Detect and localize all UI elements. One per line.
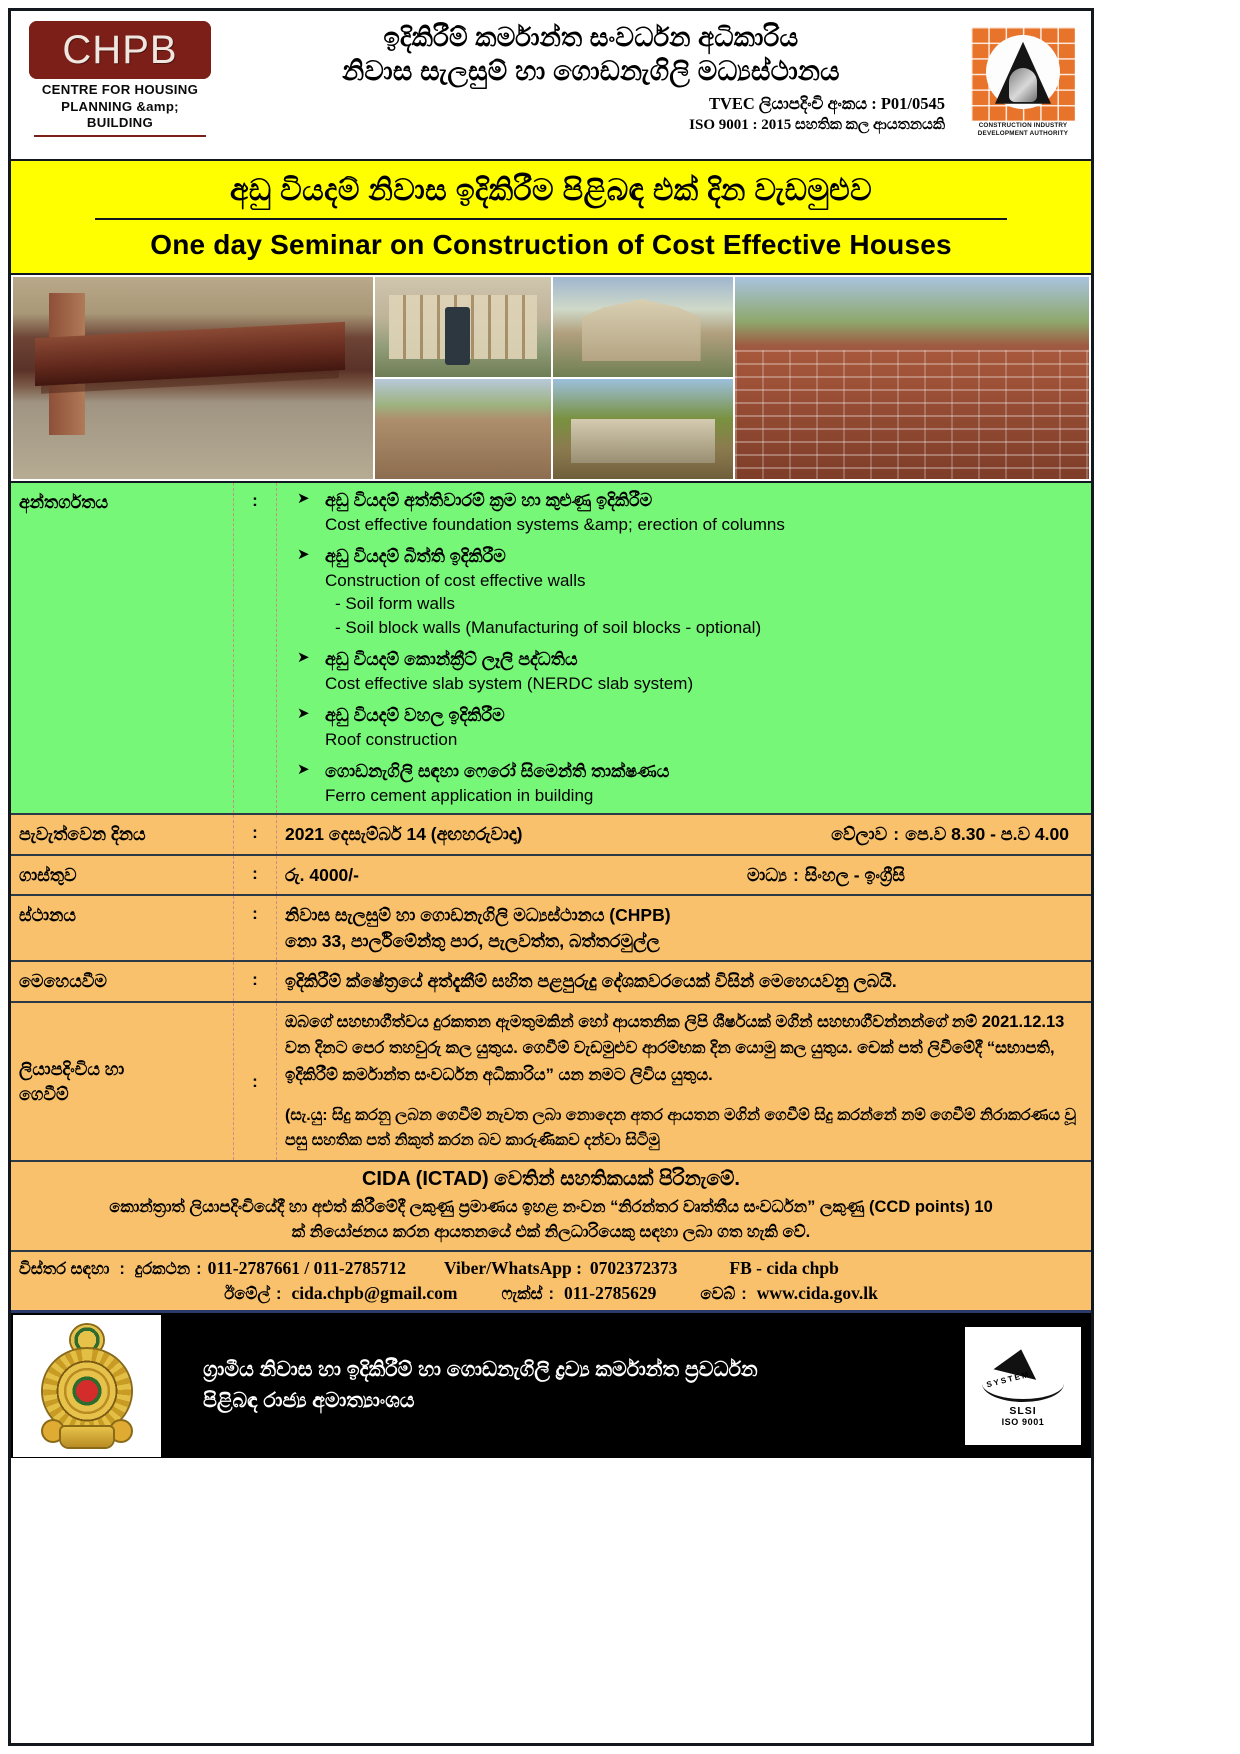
- medium-value: සිංහල - ඉංග්‍රීසි: [805, 862, 905, 888]
- content-item-en: Cost effective foundation systems &amp; …: [291, 513, 1083, 536]
- ministry-name-line1: ග්‍රාමීය නිවාස හා ඉදිකිරීම් හා ගොඩනැගිලි…: [203, 1355, 965, 1386]
- contacts-line1: විස්තර සඳහා : දුරකථන : 011-2787661 / 011…: [19, 1258, 1083, 1279]
- facebook-handle[interactable]: FB - cida chpb: [677, 1258, 838, 1279]
- conduct-label-cell: මෙහෙයවීම: [11, 961, 234, 1001]
- photo-brick-wall-building: [735, 277, 1089, 479]
- chpb-subtitle-line2: PLANNING &amp; BUILDING: [29, 99, 211, 132]
- seminar-flyer: CHPB CENTRE FOR HOUSING PLANNING &amp; B…: [0, 0, 1240, 1754]
- time-colon: :: [893, 821, 899, 847]
- registration-paragraph-part1: ඔබගේ සහභාගීත්වය දුරකතන ඇමතුමකින් හෝ ආයතන…: [285, 1013, 1064, 1058]
- table-row-conduct: මෙහෙයවීම : ඉදිකිරීම් ක්ෂේත්‍රයේ අත්දැකීම…: [11, 961, 1091, 1001]
- contents-colon-cell: :: [234, 483, 277, 814]
- photo-column-right: [553, 277, 733, 479]
- registration-note: (සැ.යු: සිදු කරනු ලබන ගෙවීම් නැවත ලබා නො…: [285, 1103, 1083, 1154]
- registration-label-cell: ලියාපදිංචිය හා ගෙවීම්: [11, 1002, 234, 1161]
- viber-whatsapp-value[interactable]: 0702372373: [582, 1258, 678, 1279]
- content-item-si: ගොඩනැගිලි සඳහා ෆෙරෝ සිමෙන්ති තාක්ෂණය: [291, 760, 1083, 784]
- venue-line2: නො 33, පාර්ලිමේන්තු පාර, පැලවත්ත, බත්තරම…: [285, 928, 1083, 954]
- chpb-logo-rule: [34, 135, 206, 137]
- fee-label: ගාස්තුව: [19, 862, 225, 887]
- date-value: 2021 දෙසැම්බර් 14 (අඟහරුවාදා): [285, 821, 522, 847]
- emblem-base: [61, 1427, 113, 1447]
- fax-group: ෆැක්ස් : 011-2785629: [501, 1283, 656, 1304]
- table-row-fee: ගාස්තුව : රු. 4000/- මාධ්‍ය : සිංහල - ඉං…: [11, 855, 1091, 895]
- venue-line1: නිවාස සැලසුම් හා ගොඩනැගිලි මධ්‍යස්ථානය (…: [285, 902, 1083, 928]
- header: CHPB CENTRE FOR HOUSING PLANNING &amp; B…: [11, 11, 1091, 159]
- website-label: වෙබ්: [700, 1285, 735, 1304]
- organization-name-line2: නිවාස සැලසුම් හා ගොඩනැගිලි මධ්‍යස්ථානය: [211, 54, 971, 89]
- content-item-en: Cost effective slab system (NERDC slab s…: [291, 672, 1083, 695]
- ministry-name: ග්‍රාමීය නිවාස හා ඉදිකිරීම් හා ගොඩනැගිලි…: [161, 1355, 965, 1417]
- photo-soil-block-wall: [375, 379, 551, 479]
- conduct-colon: :: [242, 968, 268, 990]
- photo-house-under-construction: [553, 277, 733, 377]
- conduct-label: මෙහෙයවීම: [19, 968, 225, 993]
- conduct-value-cell: ඉදිකිරීම් ක්ෂේත්‍රයේ අත්දැකීම් සහිත පළපු…: [277, 961, 1092, 1001]
- registration-colon: :: [242, 1070, 268, 1092]
- content-item-en: Ferro cement application in building: [291, 784, 1083, 807]
- fee-value: රු. 4000/-: [285, 862, 359, 888]
- cida-logo-caption: CONSTRUCTION INDUSTRY DEVELOPMENT AUTHOR…: [971, 121, 1075, 139]
- website-colon: :: [741, 1285, 747, 1304]
- date-colon-cell: :: [234, 814, 277, 854]
- chpb-logo-box: CHPB: [29, 21, 211, 79]
- chpb-subtitle-line1: CENTRE FOR HOUSING: [29, 82, 211, 99]
- content-item-foundation: අඩු වියදම් අත්තිවාරම් ක්‍රම හා කුළුණු ඉද…: [291, 489, 1083, 536]
- chpb-logo-letters: CHPB: [62, 30, 177, 70]
- fee-colon-cell: :: [234, 855, 277, 895]
- photo-column-left: [375, 277, 551, 479]
- title-banner: අඩු වියදම් නිවාස ඉදිකිරීම පිළිබඳ එක් දින…: [11, 159, 1091, 275]
- slsi-name: SLSI: [1009, 1405, 1036, 1417]
- fax-colon: :: [549, 1285, 555, 1304]
- banner-title-english: One day Seminar on Construction of Cost …: [21, 229, 1081, 261]
- fax-label: ෆැක්ස්: [501, 1285, 542, 1304]
- email-value[interactable]: cida.chpb@gmail.com: [291, 1283, 457, 1304]
- details-label: විස්තර සඳහා: [19, 1260, 109, 1279]
- website-value[interactable]: www.cida.gov.lk: [757, 1283, 878, 1304]
- registration-paragraph-part2: යන නමට ලිවිය යුතුය.: [554, 1066, 713, 1084]
- phone-colon: :: [190, 1260, 208, 1279]
- contents-bullet-list: අඩු වියදම් අත්තිවාරම් ක්‍රම හා කුළුණු ඉද…: [285, 489, 1083, 807]
- venue-colon-cell: :: [234, 895, 277, 962]
- cida-certificate-line2: කොන්ත්‍රාත් ලියාපදිංචියේදී හා අළුත් කිරී…: [19, 1195, 1083, 1220]
- emblem-left-vase: [43, 1421, 63, 1441]
- cida-logo-mark: [971, 27, 1075, 121]
- email-label: ඊමේල්: [224, 1285, 270, 1304]
- content-item-walls: අඩු වියදම් බිත්ති ඉදිකිරීම Construction …: [291, 545, 1083, 639]
- content-item-en: Roof construction: [291, 728, 1083, 751]
- email-colon: :: [276, 1285, 282, 1304]
- contacts-line2: ඊමේල් : cida.chpb@gmail.com ෆැක්ස් : 011…: [19, 1283, 1083, 1304]
- photo-steel-formwork-beam: [13, 277, 373, 479]
- registration-paragraph: ඔබගේ සහභාගීත්වය දුරකතන ඇමතුමකින් හෝ ආයතන…: [285, 1009, 1083, 1089]
- contents-label: අන්තර්ගතය: [19, 489, 225, 514]
- slsi-iso-standard: ISO 9001: [1002, 1417, 1045, 1427]
- table-row-contents: අන්තර්ගතය : අඩු වියදම් අත්තිවාරම් ක්‍රම …: [11, 483, 1091, 814]
- organization-name-line1: ඉදිකිරීම් කර්මාන්ත සංවර්ධන අධිකාරිය: [211, 21, 971, 54]
- contacts-cell: විස්තර සඳහා : දුරකථන : 011-2787661 / 011…: [11, 1251, 1091, 1310]
- registration-label-line2: ගෙවීම්: [19, 1081, 225, 1106]
- table-row-registration: ලියාපදිංචිය හා ගෙවීම් : ඔබගේ සහභාගීත්වය …: [11, 1002, 1091, 1161]
- chpb-logo: CHPB CENTRE FOR HOUSING PLANNING &amp; B…: [15, 15, 211, 137]
- fee-label-cell: ගාස්තුව: [11, 855, 234, 895]
- viber-whatsapp-label: Viber/WhatsApp :: [406, 1258, 582, 1279]
- content-item-si: අඩු වියදම් කොන්ක්‍රීට් ලෑලි පද්ධතිය: [291, 648, 1083, 672]
- time-label: වේලාව: [831, 821, 887, 847]
- website-group: වෙබ් : www.cida.gov.lk: [700, 1283, 877, 1304]
- fee-colon: :: [242, 862, 268, 884]
- header-titles: ඉදිකිරීම් කර්මාන්ත සංවර්ධන අධිකාරිය නිවා…: [211, 15, 971, 134]
- photo-foundation-with-greenery: [553, 379, 733, 479]
- sri-lanka-emblem-icon: [39, 1323, 135, 1449]
- cida-certificate-cell: CIDA (ICTAD) වෙතින් සහතිකයක් පිරිනැමේ. ක…: [11, 1161, 1091, 1252]
- banner-divider: [95, 218, 1007, 220]
- cida-certificate-line3: ක් නියෝජනය කරන ආයතනයේ එක් නිලධාරියෙකු සඳ…: [19, 1220, 1083, 1245]
- date-value-cell: 2021 දෙසැම්බර් 14 (අඟහරුවාදා) වේලාව : පෙ…: [277, 814, 1092, 854]
- slsi-logo-icon: SYSTEM: [980, 1345, 1066, 1403]
- content-item-si: අඩු වියදම් බිත්ති ඉදිකිරීම: [291, 545, 1083, 569]
- cida-caption-line2: DEVELOPMENT AUTHORITY: [971, 130, 1075, 138]
- table-row-date: පැවැත්වෙන දිනය : 2021 දෙසැම්බර් 14 (අඟහර…: [11, 814, 1091, 854]
- cida-caption-line1: CONSTRUCTION INDUSTRY: [971, 122, 1075, 130]
- registration-label-line1: ලියාපදිංචිය හා: [19, 1056, 225, 1081]
- cida-logo: CONSTRUCTION INDUSTRY DEVELOPMENT AUTHOR…: [971, 15, 1087, 139]
- contents-label-cell: අන්තර්ගතය: [11, 483, 234, 814]
- conduct-colon-cell: :: [234, 961, 277, 1001]
- conduct-value: ඉදිකිරීම් ක්ෂේත්‍රයේ අත්දැකීම් සහිත පළපු…: [285, 968, 1083, 994]
- content-item-en: Construction of cost effective walls: [291, 569, 1083, 592]
- time-value: පෙ.ව 8.30 - ප.ව 4.00: [905, 821, 1069, 847]
- table-row-cida-certificate: CIDA (ICTAD) වෙතින් සහතිකයක් පිරිනැමේ. ක…: [11, 1161, 1091, 1252]
- table-row-venue: ස්ථානය : නිවාස සැලසුම් හා ගොඩනැගිලි මධ්‍…: [11, 895, 1091, 962]
- chpb-logo-subtitle: CENTRE FOR HOUSING PLANNING &amp; BUILDI…: [29, 82, 211, 132]
- medium-label: මාධ්‍ය: [747, 862, 787, 888]
- content-item-roof: අඩු වියදම් වහල ඉදිකිරීම Roof constructio…: [291, 704, 1083, 751]
- venue-colon: :: [242, 902, 268, 924]
- footer: ග්‍රාමීය නිවාස හා ඉදිකිරීම් හා ගොඩනැගිලි…: [11, 1310, 1091, 1458]
- fax-value[interactable]: 011-2785629: [564, 1283, 656, 1304]
- date-label: පැවැත්වෙන දිනය: [19, 821, 225, 846]
- slsi-certification-box: SYSTEM SLSI ISO 9001: [965, 1327, 1081, 1445]
- emblem-right-vase: [111, 1421, 131, 1441]
- date-time-row: 2021 දෙසැම්බර් 14 (අඟහරුවාදා) වේලාව : පෙ…: [285, 821, 1083, 847]
- details-table: අන්තර්ගතය : අඩු වියදම් අත්තිවාරම් ක්‍රම …: [11, 483, 1091, 1310]
- fee-value-cell: රු. 4000/- මාධ්‍ය : සිංහල - ඉංග්‍රීසි: [277, 855, 1092, 895]
- cida-certificate-headline: CIDA (ICTAD) වෙතින් සහතිකයක් පිරිනැමේ.: [19, 1168, 1083, 1191]
- medium-colon: :: [793, 862, 799, 888]
- email-group: ඊමේල් : cida.chpb@gmail.com: [224, 1283, 457, 1304]
- registration-colon-cell: :: [234, 1002, 277, 1161]
- content-item-si: අඩු වියදම් වහල ඉදිකිරීම: [291, 704, 1083, 728]
- date-label-cell: පැවැත්වෙන දිනය: [11, 814, 234, 854]
- date-colon: :: [242, 821, 268, 843]
- banner-title-sinhala: අඩු වියදම් නිවාස ඉදිකිරීම පිළිබඳ එක් දින…: [21, 173, 1081, 209]
- ministry-name-line2: පිළිබඳ රාජ්‍ය අමාත්‍යාංශය: [203, 1386, 965, 1417]
- registration-value-cell: ඔබගේ සහභාගීත්වය දුරකතන ඇමතුමකින් හෝ ආයතන…: [277, 1002, 1092, 1161]
- venue-label-cell: ස්ථානය: [11, 895, 234, 962]
- content-item-slab: අඩු වියදම් කොන්ක්‍රීට් ලෑලි පද්ධතිය Cost…: [291, 648, 1083, 695]
- content-item-si: අඩු වියදම් අත්තිවාරම් ක්‍රම හා කුළුණු ඉද…: [291, 489, 1083, 513]
- content-item-ferro-cement: ගොඩනැගිලි සඳහා ෆෙරෝ සිමෙන්ති තාක්ෂණය Fer…: [291, 760, 1083, 807]
- cida-logo-pillar: [1009, 68, 1037, 102]
- contents-colon: :: [242, 489, 268, 511]
- medium-group: මාධ්‍ය : සිංහල - ඉංග්‍රීසි: [747, 862, 1083, 888]
- content-subitem: - Soil block walls (Manufacturing of soi…: [291, 616, 1083, 639]
- fee-medium-row: රු. 4000/- මාධ්‍ය : සිංහල - ඉංග්‍රීසි: [285, 862, 1083, 888]
- venue-label: ස්ථානය: [19, 902, 225, 927]
- photo-strip: [11, 275, 1091, 483]
- flyer-border: CHPB CENTRE FOR HOUSING PLANNING &amp; B…: [8, 8, 1094, 1746]
- photo-timber-formwork-building: [375, 277, 551, 377]
- content-subitem: - Soil form walls: [291, 592, 1083, 615]
- phone-label: දුරකථන: [135, 1260, 190, 1279]
- table-row-contacts: විස්තර සඳහා : දුරකථන : 011-2787661 / 011…: [11, 1251, 1091, 1310]
- sri-lanka-emblem-box: [13, 1315, 161, 1457]
- tvec-registration-number: TVEC ලියාපදිංචි අංකය : P01/0545: [211, 94, 971, 114]
- iso-certification-note: ISO 9001 : 2015 සහතික කල ආයතනයකි: [211, 116, 971, 134]
- contents-value-cell: අඩු වියදම් අත්තිවාරම් ක්‍රම හා කුළුණු ඉද…: [277, 483, 1092, 814]
- time-group: වේලාව : පෙ.ව 8.30 - ප.ව 4.00: [831, 821, 1083, 847]
- phone-value[interactable]: 011-2787661 / 011-2785712: [208, 1258, 406, 1279]
- details-colon: :: [109, 1260, 135, 1279]
- venue-value-cell: නිවාස සැලසුම් හා ගොඩනැගිලි මධ්‍යස්ථානය (…: [277, 895, 1092, 962]
